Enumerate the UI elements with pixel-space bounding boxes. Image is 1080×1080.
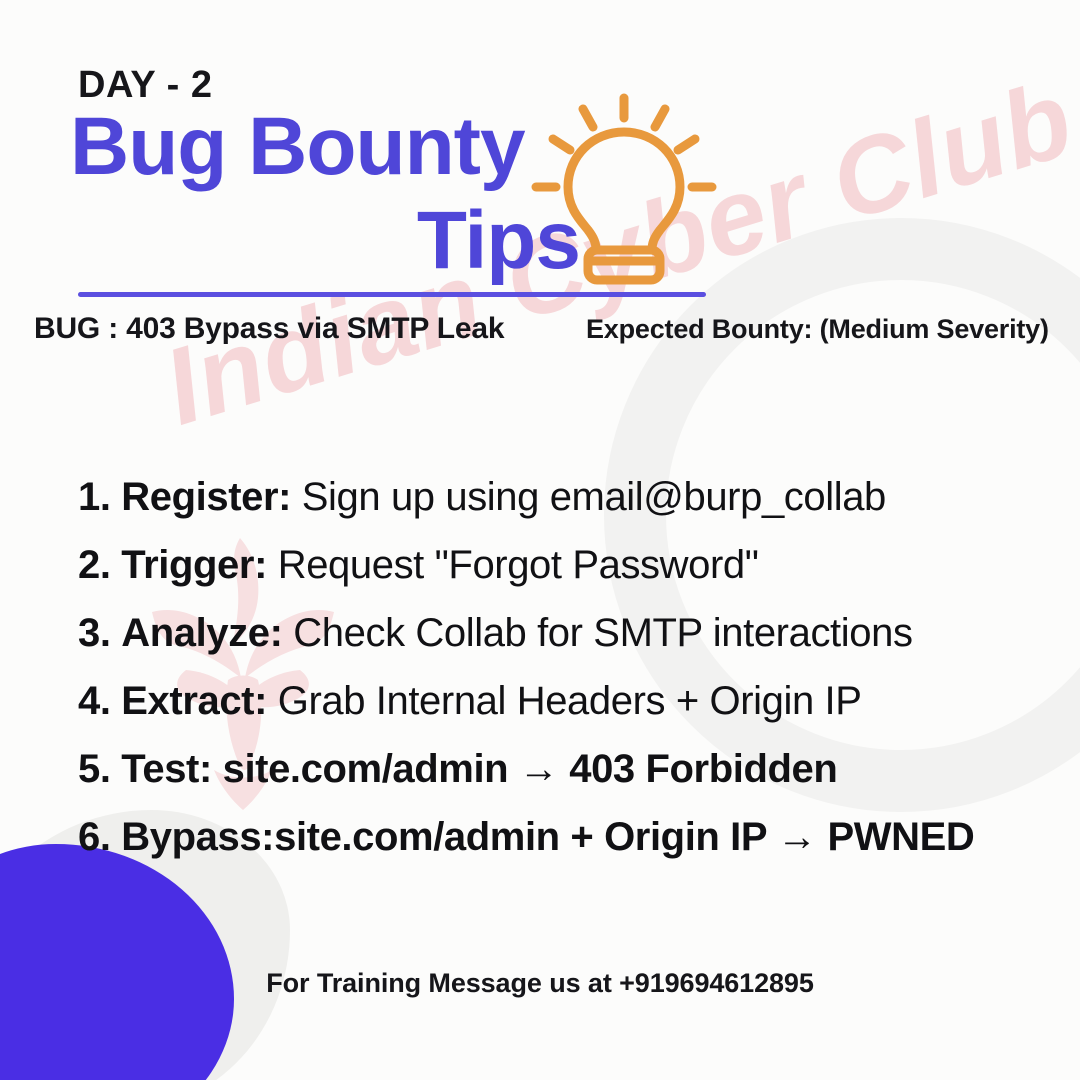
step-label: Bypass:: [121, 815, 274, 859]
step-number: 4.: [78, 679, 111, 723]
list-item: 4. Extract: Grab Internal Headers + Orig…: [78, 667, 1038, 735]
footer-contact: For Training Message us at +919694612895: [0, 968, 1080, 999]
brand-title: Bug Bounty Tips: [70, 100, 590, 288]
step-number: 5.: [78, 747, 111, 791]
step-text: Grab Internal Headers + Origin IP: [267, 679, 861, 723]
brand-title-line1: Bug Bounty: [70, 100, 590, 194]
list-item: 1. Register: Sign up using email@burp_co…: [78, 463, 1038, 531]
step-number: 2.: [78, 543, 111, 587]
bug-title: BUG : 403 Bypass via SMTP Leak: [34, 312, 504, 346]
step-text: site.com/admin → 403 Forbidden: [212, 747, 838, 791]
step-text: site.com/admin + Origin IP → PWNED: [274, 815, 974, 859]
step-text: Check Collab for SMTP interactions: [283, 611, 913, 655]
step-label: Test:: [121, 747, 212, 791]
list-item: 3. Analyze: Check Collab for SMTP intera…: [78, 599, 1038, 667]
step-label: Register:: [121, 475, 291, 519]
list-item: 2. Trigger: Request "Forgot Password": [78, 531, 1038, 599]
expected-bounty-label: Expected Bounty: (Medium Severity): [586, 314, 1049, 345]
lightbulb-icon: [524, 92, 724, 290]
step-label: Trigger:: [121, 543, 267, 587]
header-divider: [78, 292, 706, 297]
step-number: 3.: [78, 611, 111, 655]
step-number: 6.: [78, 815, 111, 859]
background-purple-blob: [0, 844, 234, 1080]
steps-list: 1. Register: Sign up using email@burp_co…: [78, 463, 1038, 871]
bug-bounty-tips-poster: Indian Cyber Club DAY - 2 Bug Bounty Tip…: [0, 0, 1080, 1080]
list-item: 5. Test: site.com/admin → 403 Forbidden: [78, 735, 1038, 803]
list-item: 6. Bypass:site.com/admin + Origin IP → P…: [78, 803, 1038, 871]
step-label: Extract:: [121, 679, 267, 723]
step-text: Request "Forgot Password": [267, 543, 759, 587]
step-number: 1.: [78, 475, 111, 519]
brand-title-line2: Tips: [70, 194, 590, 288]
step-label: Analyze:: [121, 611, 282, 655]
step-text: Sign up using email@burp_collab: [291, 475, 886, 519]
